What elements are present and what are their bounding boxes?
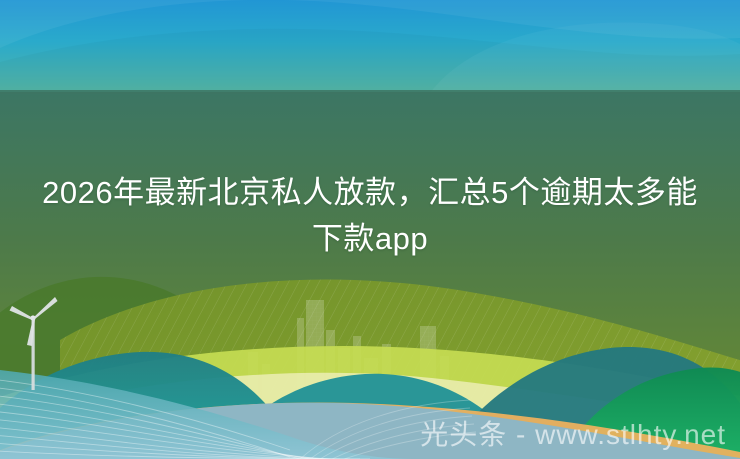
background-artwork: [0, 0, 740, 459]
horizon-band: [0, 90, 740, 94]
field-region: [0, 92, 740, 459]
banner-image: 2026年最新北京私人放款，汇总5个逾期太多能下款app 光头条 - www.s…: [0, 0, 740, 459]
sky-region: [0, 0, 740, 93]
